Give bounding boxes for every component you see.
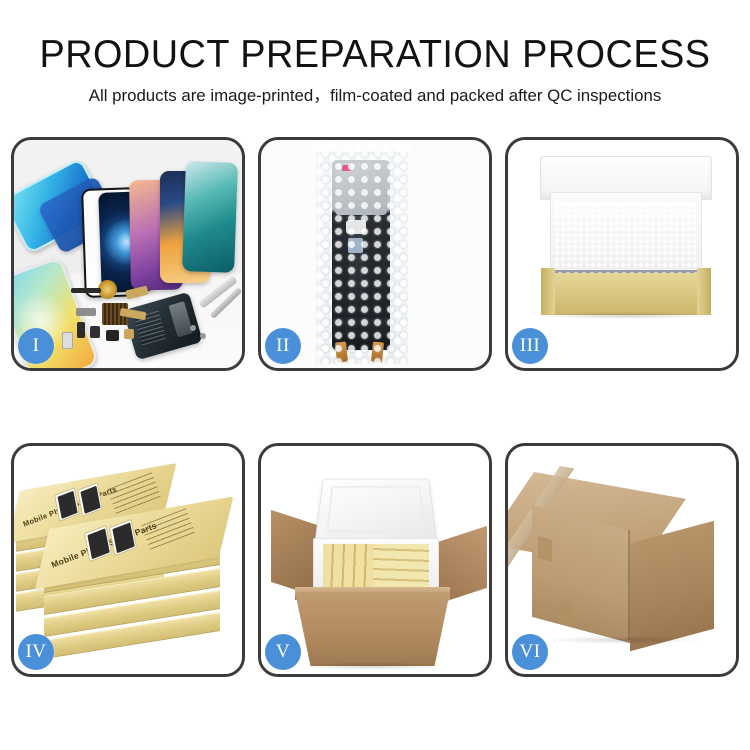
process-step-card-5[interactable]: V	[258, 443, 492, 677]
small-part-b-icon	[77, 322, 85, 338]
process-step-card-2[interactable]: II	[258, 137, 492, 371]
process-step-card-4[interactable]: Mobile Phone Spare Parts Mobile Phone Sp…	[11, 443, 245, 677]
process-steps-grid: I II	[11, 137, 739, 677]
step-badge-6: VI	[512, 634, 548, 670]
foam-sheet-icon	[554, 202, 696, 274]
bubble-texture-overlay	[316, 142, 408, 364]
page-header: PRODUCT PREPARATION PROCESS All products…	[0, 0, 750, 106]
box-front-panel-icon	[541, 273, 711, 315]
step-badge-3: III	[512, 328, 548, 364]
gold-boxes-row-2-icon	[373, 544, 429, 588]
sealed-carton-drop-shadow	[544, 636, 702, 644]
carton-body-icon	[295, 592, 450, 666]
tape-patch-upper-icon	[538, 536, 552, 562]
foam-lid-icon	[315, 479, 438, 542]
step-badge-5: V	[265, 634, 301, 670]
process-step-card-3[interactable]: III	[505, 137, 739, 371]
screw-2-icon	[200, 333, 206, 339]
page-title: PRODUCT PREPARATION PROCESS	[11, 0, 739, 76]
process-step-card-1[interactable]: I	[11, 137, 245, 371]
bubble-bag-icon	[316, 142, 408, 364]
sealed-carton-edge-icon	[628, 530, 630, 641]
step-badge-1: I	[18, 328, 54, 364]
small-part-d-icon	[106, 330, 119, 341]
box-drop-shadow	[538, 312, 714, 319]
small-part-f-icon	[62, 332, 73, 349]
earpiece-strip-icon	[71, 288, 101, 293]
tape-patch-lower-icon	[558, 602, 572, 624]
page-subtitle: All products are image-printed，film-coat…	[4, 76, 747, 106]
step-badge-4: IV	[18, 634, 54, 670]
small-part-e-icon	[124, 329, 134, 339]
step-badge-2: II	[265, 328, 301, 364]
sealed-carton-side-icon	[630, 521, 714, 652]
screw-1-icon	[190, 325, 196, 331]
teal-gradient-phone-icon	[182, 161, 238, 273]
bag-seal-icon	[313, 140, 411, 152]
small-part-c-icon	[90, 326, 100, 338]
box-right-lip-icon	[697, 268, 711, 315]
process-step-card-6[interactable]: VI	[505, 443, 739, 677]
carton-drop-shadow	[301, 662, 443, 670]
box-left-lip-icon	[541, 268, 555, 315]
small-part-a-icon	[76, 308, 96, 316]
